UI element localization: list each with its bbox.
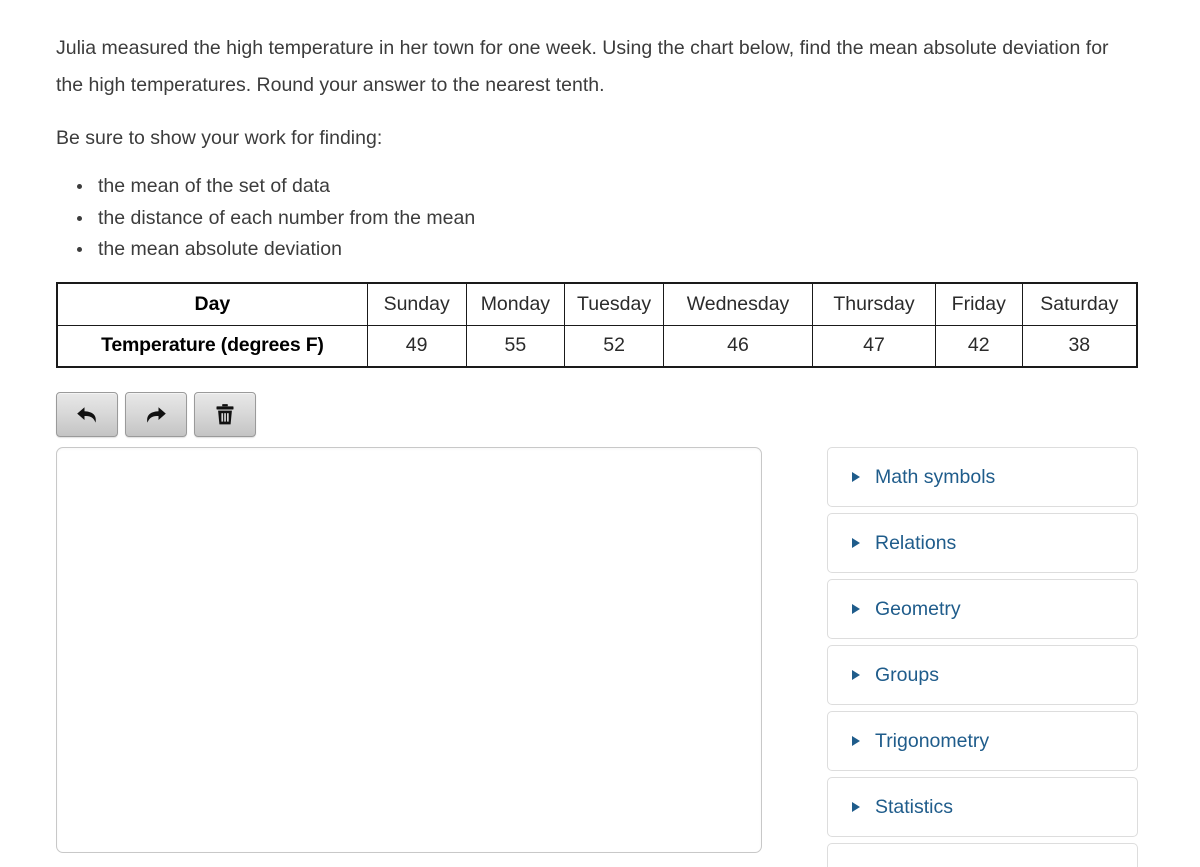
accordion-label: Relations (875, 532, 956, 555)
table-cell-temperature: 49 (367, 325, 466, 367)
editor-toolbar (56, 392, 256, 437)
delete-button[interactable] (194, 392, 256, 437)
table-row-temperatures: Temperature (degrees F) 49 55 52 46 47 4… (57, 325, 1137, 367)
list-item: the mean absolute deviation (94, 234, 1056, 266)
table-cell-temperature: 52 (565, 325, 664, 367)
accordion-label: Groups (875, 664, 939, 687)
trash-icon (214, 403, 236, 427)
table-cell-day: Thursday (813, 283, 936, 325)
accordion-label: Math symbols (875, 466, 995, 489)
accordion-item-trigonometry[interactable]: Trigonometry (827, 711, 1138, 771)
row-header-temperature: Temperature (degrees F) (57, 325, 367, 367)
temperature-data-table: Day Sunday Monday Tuesday Wednesday Thur… (56, 282, 1138, 368)
redo-button[interactable] (125, 392, 187, 437)
caret-right-icon (852, 670, 860, 680)
accordion-item-statistics[interactable]: Statistics (827, 777, 1138, 837)
table-cell-day: Tuesday (565, 283, 664, 325)
caret-right-icon (852, 802, 860, 812)
accordion-item-next[interactable] (827, 843, 1138, 867)
table-cell-day: Sunday (367, 283, 466, 325)
symbol-palette: Math symbols Relations Geometry Groups T… (827, 447, 1138, 867)
answer-input[interactable] (56, 447, 762, 853)
table-cell-temperature: 42 (935, 325, 1022, 367)
requirements-list: the mean of the set of data the distance… (56, 171, 1056, 266)
caret-right-icon (852, 538, 860, 548)
accordion-label: Geometry (875, 598, 961, 621)
table-cell-temperature: 38 (1022, 325, 1137, 367)
redo-arrow-icon (143, 403, 169, 427)
table-cell-day: Friday (935, 283, 1022, 325)
table-cell-temperature: 47 (813, 325, 936, 367)
table-cell-day: Saturday (1022, 283, 1137, 325)
table-row-days: Day Sunday Monday Tuesday Wednesday Thur… (57, 283, 1137, 325)
accordion-item-math-symbols[interactable]: Math symbols (827, 447, 1138, 507)
caret-right-icon (852, 604, 860, 614)
table-cell-day: Monday (466, 283, 565, 325)
accordion-item-groups[interactable]: Groups (827, 645, 1138, 705)
table-cell-day: Wednesday (663, 283, 812, 325)
row-header-day: Day (57, 283, 367, 325)
table-cell-temperature: 46 (663, 325, 812, 367)
accordion-label: Trigonometry (875, 730, 989, 753)
list-item: the mean of the set of data (94, 171, 1056, 203)
caret-right-icon (852, 736, 860, 746)
undo-button[interactable] (56, 392, 118, 437)
accordion-item-geometry[interactable]: Geometry (827, 579, 1138, 639)
problem-statement: Julia measured the high temperature in h… (56, 30, 1126, 104)
undo-arrow-icon (74, 403, 100, 427)
accordion-item-relations[interactable]: Relations (827, 513, 1138, 573)
table-cell-temperature: 55 (466, 325, 565, 367)
caret-right-icon (852, 472, 860, 482)
list-item: the distance of each number from the mea… (94, 203, 1056, 235)
work-instruction: Be sure to show your work for finding: (56, 122, 1126, 154)
exercise-page: Julia measured the high temperature in h… (0, 0, 1200, 867)
accordion-label: Statistics (875, 796, 953, 819)
